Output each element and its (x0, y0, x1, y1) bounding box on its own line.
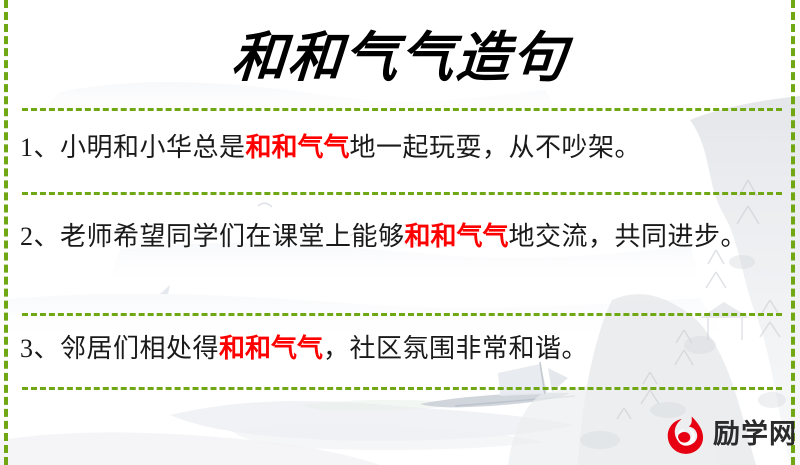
frame-border-left (4, 0, 8, 465)
sentence-before-3: 邻居们相处得 (60, 334, 219, 363)
idiom-highlight-2: 和和气气 (405, 222, 509, 252)
separator-bottom (22, 387, 782, 390)
sentence-item-3: 3、邻居们相处得和和气气，社区氛围非常和谐。 (20, 328, 776, 370)
separator-top (22, 108, 782, 111)
page-title: 和和气气造句 (0, 22, 800, 94)
worksheet-page: 和和气气造句 1、小明和小华总是和和气气地一起玩耍，从不吵架。 2、老师希望同学… (0, 0, 800, 465)
separator-one (22, 192, 782, 195)
idiom-highlight-1: 和和气气 (246, 133, 350, 163)
sentence-item-2: 2、老师希望同学们在课堂上能够和和气气地交流，共同进步。 (20, 216, 776, 258)
sentence-after-1: 地一起玩耍，从不吵架。 (350, 133, 642, 162)
sentence-before-2: 老师希望同学们在课堂上能够 (60, 222, 405, 251)
flame-swirl-icon (664, 414, 706, 456)
sentence-index-1: 1、 (20, 133, 60, 162)
sentence-after-3: ，社区氛围非常和谐。 (323, 334, 588, 363)
site-watermark-logo: 励学网 (664, 414, 797, 456)
site-watermark-text: 励学网 (713, 420, 797, 450)
sentence-after-2: 地交流，共同进步。 (509, 222, 748, 251)
sentence-before-1: 小明和小华总是 (60, 133, 246, 162)
sentence-item-1: 1、小明和小华总是和和气气地一起玩耍，从不吵架。 (20, 127, 776, 169)
separator-two (22, 313, 782, 316)
sentence-index-2: 2、 (20, 222, 60, 251)
idiom-highlight-3: 和和气气 (219, 334, 323, 364)
frame-border-right (791, 0, 795, 465)
sentence-index-3: 3、 (20, 334, 60, 363)
